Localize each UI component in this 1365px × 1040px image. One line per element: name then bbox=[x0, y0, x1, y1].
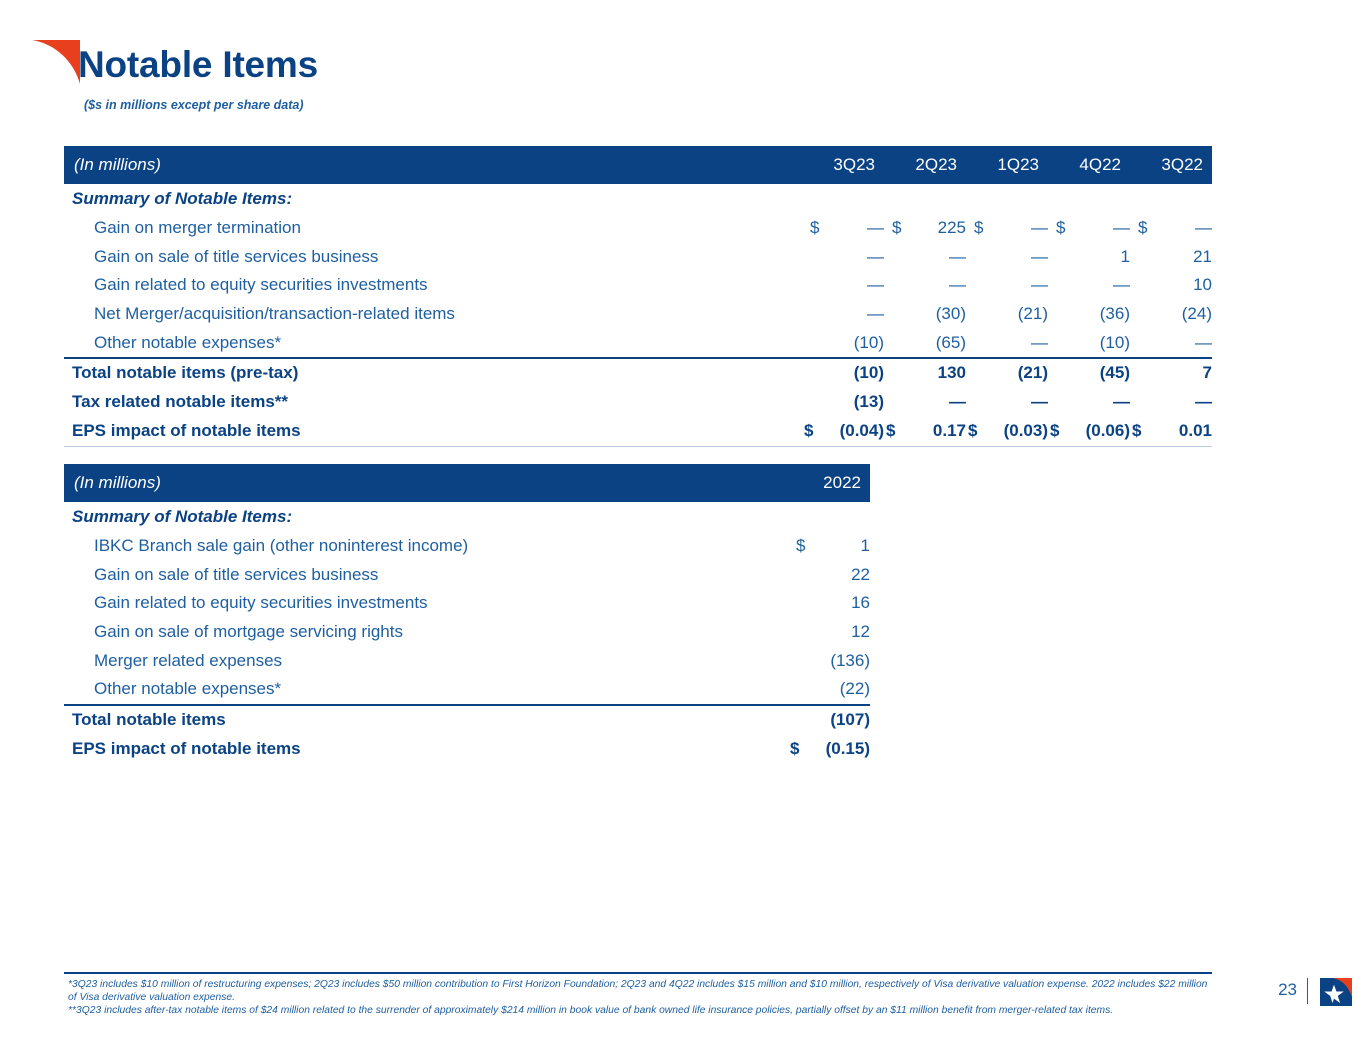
cell-2022: $1 bbox=[788, 532, 870, 561]
table-row: Gain related to equity securities invest… bbox=[64, 589, 870, 618]
red-flag-swoosh-icon bbox=[30, 36, 84, 86]
cell-3q22: — bbox=[1130, 328, 1212, 358]
cell-1q23: — bbox=[966, 243, 1048, 272]
cell-value: 16 bbox=[851, 593, 870, 612]
page-number: 23 bbox=[1278, 980, 1297, 1000]
footnote-single-asterisk: *3Q23 includes $10 million of restructur… bbox=[68, 978, 1208, 1004]
row-label: Gain related to equity securities invest… bbox=[64, 589, 788, 618]
cell-value: 130 bbox=[938, 363, 966, 382]
cell-value: (0.03) bbox=[1004, 421, 1048, 440]
cell-2q23: (65) bbox=[884, 328, 966, 358]
currency-symbol: $ bbox=[804, 421, 813, 441]
annual-notable-items-table: (In millions) 2022 Summary of Notable It… bbox=[64, 464, 870, 764]
cell-3q23: (10) bbox=[802, 359, 884, 388]
cell-1q23: — bbox=[966, 388, 1048, 417]
table-row: Other notable expenses* (10) (65) — (10)… bbox=[64, 328, 1212, 358]
cell-3q22: (24) bbox=[1130, 300, 1212, 329]
section-caption-row: Summary of Notable Items: bbox=[64, 184, 1212, 214]
cell-1q23: (21) bbox=[966, 359, 1048, 388]
cell-value: (0.04) bbox=[840, 421, 884, 440]
currency-symbol: $ bbox=[796, 536, 805, 556]
cell-value: 0.17 bbox=[933, 421, 966, 440]
cell-2q23: — bbox=[884, 271, 966, 300]
cell-4q22: — bbox=[1048, 271, 1130, 300]
cell-2022: 22 bbox=[788, 561, 870, 590]
cell-value: (10) bbox=[854, 333, 884, 352]
footnote-double-asterisk: **3Q23 includes after-tax notable items … bbox=[68, 1004, 1208, 1017]
cell-3q22: — bbox=[1130, 388, 1212, 417]
table-rule bbox=[64, 446, 1212, 447]
cell-4q22: (36) bbox=[1048, 300, 1130, 329]
currency-symbol: $ bbox=[886, 421, 895, 441]
table-row: IBKC Branch sale gain (other noninterest… bbox=[64, 532, 870, 561]
cell-value: — bbox=[1113, 392, 1130, 411]
slide-header: Notable Items ($s in millions except per… bbox=[0, 0, 1365, 130]
row-label: Gain on sale of title services business bbox=[64, 561, 788, 590]
cell-4q22: 1 bbox=[1048, 243, 1130, 272]
cell-1q23: $— bbox=[966, 214, 1048, 243]
cell-value: — bbox=[1031, 333, 1048, 352]
cell-value: (65) bbox=[936, 333, 966, 352]
cell-value: (13) bbox=[854, 392, 884, 411]
cell-2022: 12 bbox=[788, 618, 870, 647]
cell-2q23: 130 bbox=[884, 359, 966, 388]
cell-value: (24) bbox=[1182, 304, 1212, 323]
cell-3q23: $— bbox=[802, 214, 884, 243]
cell-2q23: $0.17 bbox=[884, 417, 966, 447]
cell-2022: $(0.15) bbox=[788, 735, 870, 764]
table-row: Gain on sale of mortgage servicing right… bbox=[64, 618, 870, 647]
cell-value: 12 bbox=[851, 622, 870, 641]
cell-value: — bbox=[1031, 392, 1048, 411]
rule-line bbox=[64, 446, 1212, 447]
row-label: Merger related expenses bbox=[64, 646, 788, 675]
table-total-row: EPS impact of notable items $(0.15) bbox=[64, 735, 870, 764]
row-label: Total notable items bbox=[64, 706, 788, 735]
table-total-row: Tax related notable items** (13) — — — — bbox=[64, 388, 1212, 417]
cell-2022: (136) bbox=[788, 646, 870, 675]
currency-symbol: $ bbox=[974, 218, 983, 238]
footnotes: *3Q23 includes $10 million of restructur… bbox=[68, 978, 1208, 1018]
cell-4q22: $— bbox=[1048, 214, 1130, 243]
row-label: Gain related to equity securities invest… bbox=[64, 271, 802, 300]
page-title: Notable Items bbox=[78, 44, 318, 86]
cell-value: — bbox=[1195, 333, 1212, 352]
row-label: Other notable expenses* bbox=[64, 675, 788, 705]
table-row: Other notable expenses* (22) bbox=[64, 675, 870, 705]
table-row: Gain on sale of title services business … bbox=[64, 561, 870, 590]
cell-value: — bbox=[867, 275, 884, 294]
cell-1q23: $(0.03) bbox=[966, 417, 1048, 447]
cell-value: — bbox=[867, 218, 884, 237]
currency-symbol: $ bbox=[790, 739, 799, 759]
row-label: IBKC Branch sale gain (other noninterest… bbox=[64, 532, 788, 561]
cell-value: (0.06) bbox=[1086, 421, 1130, 440]
section-caption-row: Summary of Notable Items: bbox=[64, 502, 870, 532]
cell-value: — bbox=[1113, 275, 1130, 294]
cell-value: — bbox=[949, 392, 966, 411]
quarterly-notable-items-table: (In millions) 3Q23 2Q23 1Q23 4Q22 3Q22 S… bbox=[64, 146, 1212, 447]
cell-value: (0.15) bbox=[826, 739, 870, 758]
title-subnote: ($s in millions except per share data) bbox=[84, 98, 304, 112]
column-header-2q23: 2Q23 bbox=[884, 146, 966, 184]
cell-2q23: $225 bbox=[884, 214, 966, 243]
row-label: Net Merger/acquisition/transaction-relat… bbox=[64, 300, 802, 329]
row-label: Gain on sale of mortgage servicing right… bbox=[64, 618, 788, 647]
column-header-3q23: 3Q23 bbox=[802, 146, 884, 184]
table-row: Gain related to equity securities invest… bbox=[64, 271, 1212, 300]
row-label: Gain on sale of title services business bbox=[64, 243, 802, 272]
row-label: Total notable items (pre-tax) bbox=[64, 359, 802, 388]
cell-value: 7 bbox=[1203, 363, 1212, 382]
currency-symbol: $ bbox=[1050, 421, 1059, 441]
table-row: Gain on sale of title services business … bbox=[64, 243, 1212, 272]
cell-3q22: 21 bbox=[1130, 243, 1212, 272]
row-label: Tax related notable items** bbox=[64, 388, 802, 417]
cell-value: (21) bbox=[1018, 363, 1048, 382]
cell-3q23: — bbox=[802, 300, 884, 329]
cell-4q22: (10) bbox=[1048, 328, 1130, 358]
footer-separator bbox=[1307, 978, 1309, 1004]
section-caption: Summary of Notable Items: bbox=[64, 502, 870, 532]
cell-4q22: — bbox=[1048, 388, 1130, 417]
table-total-row: Total notable items (pre-tax) (10) 130 (… bbox=[64, 359, 1212, 388]
cell-3q22: $0.01 bbox=[1130, 417, 1212, 447]
cell-value: (107) bbox=[830, 710, 870, 729]
cell-value: — bbox=[1031, 275, 1048, 294]
cell-value: 21 bbox=[1193, 247, 1212, 266]
cell-1q23: — bbox=[966, 271, 1048, 300]
cell-value: (136) bbox=[830, 651, 870, 670]
cell-2022: (107) bbox=[788, 706, 870, 735]
table-row: Gain on merger termination $— $225 $— $—… bbox=[64, 214, 1212, 243]
cell-value: 10 bbox=[1193, 275, 1212, 294]
header-in-millions: (In millions) bbox=[64, 464, 788, 502]
cell-1q23: — bbox=[966, 328, 1048, 358]
header-in-millions: (In millions) bbox=[64, 146, 802, 184]
cell-value: (30) bbox=[936, 304, 966, 323]
row-label: Other notable expenses* bbox=[64, 328, 802, 358]
section-caption: Summary of Notable Items: bbox=[64, 184, 1212, 214]
cell-value: (36) bbox=[1100, 304, 1130, 323]
currency-symbol: $ bbox=[892, 218, 901, 238]
cell-2q23: (30) bbox=[884, 300, 966, 329]
cell-value: — bbox=[1031, 218, 1048, 237]
cell-value: — bbox=[949, 275, 966, 294]
cell-value: (45) bbox=[1100, 363, 1130, 382]
cell-2q23: — bbox=[884, 388, 966, 417]
cell-3q23: (13) bbox=[802, 388, 884, 417]
cell-3q23: (10) bbox=[802, 328, 884, 358]
cell-value: (22) bbox=[840, 679, 870, 698]
footer-divider-line bbox=[64, 972, 1212, 974]
cell-value: — bbox=[867, 247, 884, 266]
cell-4q22: (45) bbox=[1048, 359, 1130, 388]
table-header-row: (In millions) 3Q23 2Q23 1Q23 4Q22 3Q22 bbox=[64, 146, 1212, 184]
first-horizon-star-logo bbox=[1319, 977, 1353, 1007]
currency-symbol: $ bbox=[968, 421, 977, 441]
cell-value: — bbox=[1031, 247, 1048, 266]
cell-value: — bbox=[1195, 392, 1212, 411]
cell-3q23: — bbox=[802, 271, 884, 300]
table-row: Net Merger/acquisition/transaction-relat… bbox=[64, 300, 1212, 329]
currency-symbol: $ bbox=[1056, 218, 1065, 238]
row-label: Gain on merger termination bbox=[64, 214, 802, 243]
cell-value: — bbox=[949, 247, 966, 266]
cell-value: 1 bbox=[1121, 247, 1130, 266]
cell-value: — bbox=[1195, 218, 1212, 237]
cell-value: 0.01 bbox=[1179, 421, 1212, 440]
column-header-2022: 2022 bbox=[788, 464, 870, 502]
cell-3q22: 7 bbox=[1130, 359, 1212, 388]
row-label: EPS impact of notable items bbox=[64, 417, 802, 447]
cell-3q22: 10 bbox=[1130, 271, 1212, 300]
cell-4q22: $(0.06) bbox=[1048, 417, 1130, 447]
cell-3q23: — bbox=[802, 243, 884, 272]
table-row: Merger related expenses (136) bbox=[64, 646, 870, 675]
cell-2022: (22) bbox=[788, 675, 870, 705]
cell-3q22: $— bbox=[1130, 214, 1212, 243]
cell-value: (10) bbox=[1100, 333, 1130, 352]
column-header-3q22: 3Q22 bbox=[1130, 146, 1212, 184]
cell-3q23: $(0.04) bbox=[802, 417, 884, 447]
cell-value: 1 bbox=[861, 536, 870, 555]
table-header-row: (In millions) 2022 bbox=[64, 464, 870, 502]
currency-symbol: $ bbox=[1138, 218, 1147, 238]
currency-symbol: $ bbox=[810, 218, 819, 238]
cell-value: 225 bbox=[938, 218, 966, 237]
table-total-row: Total notable items (107) bbox=[64, 706, 870, 735]
cell-value: — bbox=[1113, 218, 1130, 237]
cell-2q23: — bbox=[884, 243, 966, 272]
cell-1q23: (21) bbox=[966, 300, 1048, 329]
cell-2022: 16 bbox=[788, 589, 870, 618]
column-header-1q23: 1Q23 bbox=[966, 146, 1048, 184]
cell-value: (21) bbox=[1018, 304, 1048, 323]
currency-symbol: $ bbox=[1132, 421, 1141, 441]
row-label: EPS impact of notable items bbox=[64, 735, 788, 764]
cell-value: 22 bbox=[851, 565, 870, 584]
column-header-4q22: 4Q22 bbox=[1048, 146, 1130, 184]
cell-value: — bbox=[867, 304, 884, 323]
table-total-row: EPS impact of notable items $(0.04) $0.1… bbox=[64, 417, 1212, 447]
cell-value: (10) bbox=[854, 363, 884, 382]
